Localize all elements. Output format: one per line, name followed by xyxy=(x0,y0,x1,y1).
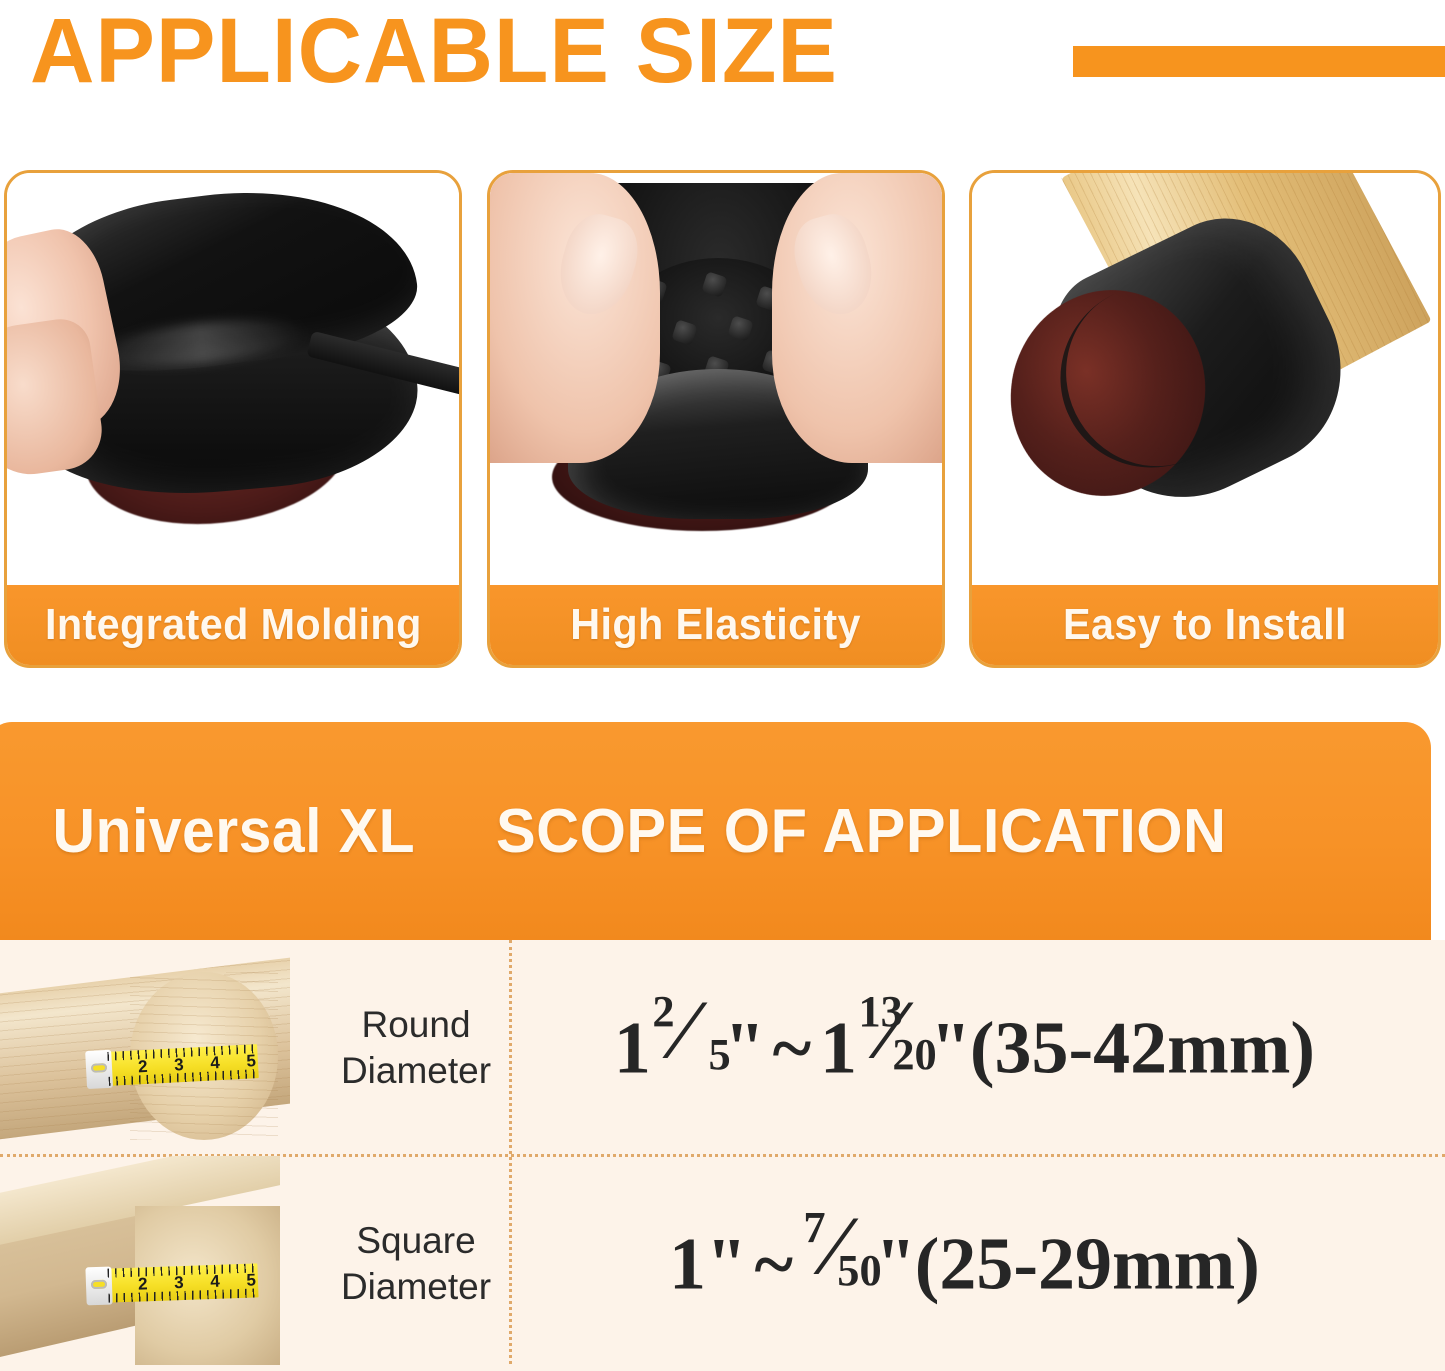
round-leg-illustration: 2 3 4 5 xyxy=(0,940,322,1155)
fraction-denominator: 20 xyxy=(892,1028,936,1080)
value-whole-max: 1 xyxy=(820,1008,857,1090)
spec-scope-title: SCOPE OF APPLICATION xyxy=(496,796,1394,867)
spec-table-header: Universal XL SCOPE OF APPLICATION xyxy=(0,722,1431,940)
label-line-2: Diameter xyxy=(322,1264,510,1310)
fraction-numerator: 7 xyxy=(803,1201,825,1253)
range-tilde: ~ xyxy=(764,1008,820,1090)
feature-card-row: Integrated Molding High Elastici xyxy=(0,170,1445,670)
feature-card-easy-to-install[interactable]: Easy to Install xyxy=(969,170,1441,668)
feature-caption-bar: High Elasticity xyxy=(490,585,942,665)
spec-row-value-square: 1"~7⁄50"(25-29mm) xyxy=(510,1219,1445,1308)
value-metric: (35-42mm) xyxy=(970,1008,1315,1090)
tape-number: 2 xyxy=(138,1057,149,1077)
value-metric: (25-29mm) xyxy=(915,1224,1260,1306)
feature-card-integrated-molding[interactable]: Integrated Molding xyxy=(4,170,462,668)
square-leg-illustration: 2 3 4 5 xyxy=(0,1156,322,1371)
spec-table: Universal XL SCOPE OF APPLICATION xyxy=(0,722,1445,1371)
feature-card-high-elasticity[interactable]: High Elasticity xyxy=(487,170,945,668)
grip-nub xyxy=(727,315,753,341)
page-header: APPLICABLE SIZE xyxy=(0,0,1445,118)
fraction-min: 2⁄5 xyxy=(652,1003,722,1077)
label-line-1: Round xyxy=(322,1002,510,1048)
fraction-slash: ⁄ xyxy=(678,981,692,1079)
feature-caption-label: Easy to Install xyxy=(1063,600,1347,650)
spec-row-value-round: 12⁄5"~113⁄20"(35-42mm) xyxy=(510,1003,1445,1092)
label-line-1: Square xyxy=(322,1218,510,1264)
product-photo-easy-to-install xyxy=(972,173,1438,591)
tape-number: 5 xyxy=(246,1270,256,1290)
spec-row-label-round: Round Diameter xyxy=(322,1002,510,1094)
spec-row-square: 2 3 4 5 Square Diameter 1"~7⁄50"(25-29mm… xyxy=(0,1156,1445,1371)
fraction-denominator: 5 xyxy=(708,1028,730,1080)
feature-caption-label: High Elasticity xyxy=(571,600,862,650)
product-photo-integrated-molding xyxy=(7,173,459,591)
feature-caption-bar: Easy to Install xyxy=(972,585,1438,665)
fraction-denominator: 50 xyxy=(837,1244,881,1296)
fraction-numerator: 2 xyxy=(652,985,674,1037)
tape-number: 3 xyxy=(174,1055,185,1075)
grip-nub xyxy=(671,319,697,345)
grip-nub xyxy=(701,271,727,297)
page-title: APPLICABLE SIZE xyxy=(30,2,838,100)
tape-number: 3 xyxy=(174,1273,184,1293)
spec-row-label-square: Square Diameter xyxy=(322,1218,510,1310)
fraction-max: 13⁄20 xyxy=(858,1003,928,1077)
value-whole-min: 1 xyxy=(669,1224,706,1306)
spec-row-round: 2 3 4 5 Round Diameter 12⁄5"~113⁄20"(35-… xyxy=(0,940,1445,1155)
product-photo-high-elasticity xyxy=(490,173,942,591)
value-whole-min: 1 xyxy=(614,1008,651,1090)
spec-table-body: 2 3 4 5 Round Diameter 12⁄5"~113⁄20"(35-… xyxy=(0,940,1445,1371)
title-rule-bar xyxy=(1073,46,1445,77)
tape-measure: 2 3 4 5 xyxy=(107,1263,258,1302)
range-tilde: ~ xyxy=(746,1224,802,1306)
hand-right xyxy=(772,173,942,463)
tape-number: 4 xyxy=(210,1053,221,1073)
feature-caption-label: Integrated Molding xyxy=(45,600,422,650)
inch-mark: " xyxy=(706,1224,746,1306)
tape-number: 5 xyxy=(246,1051,257,1071)
hand-left xyxy=(490,173,660,463)
tape-numbers: 2 3 4 5 xyxy=(138,1270,257,1294)
tape-number: 4 xyxy=(210,1272,220,1292)
feature-caption-bar: Integrated Molding xyxy=(7,585,459,665)
fraction-max: 7⁄50 xyxy=(803,1219,873,1293)
spec-size-name: Universal XL xyxy=(0,796,471,867)
bottom-edge xyxy=(0,1365,1445,1371)
label-line-2: Diameter xyxy=(322,1048,510,1094)
tape-number: 2 xyxy=(138,1274,148,1294)
